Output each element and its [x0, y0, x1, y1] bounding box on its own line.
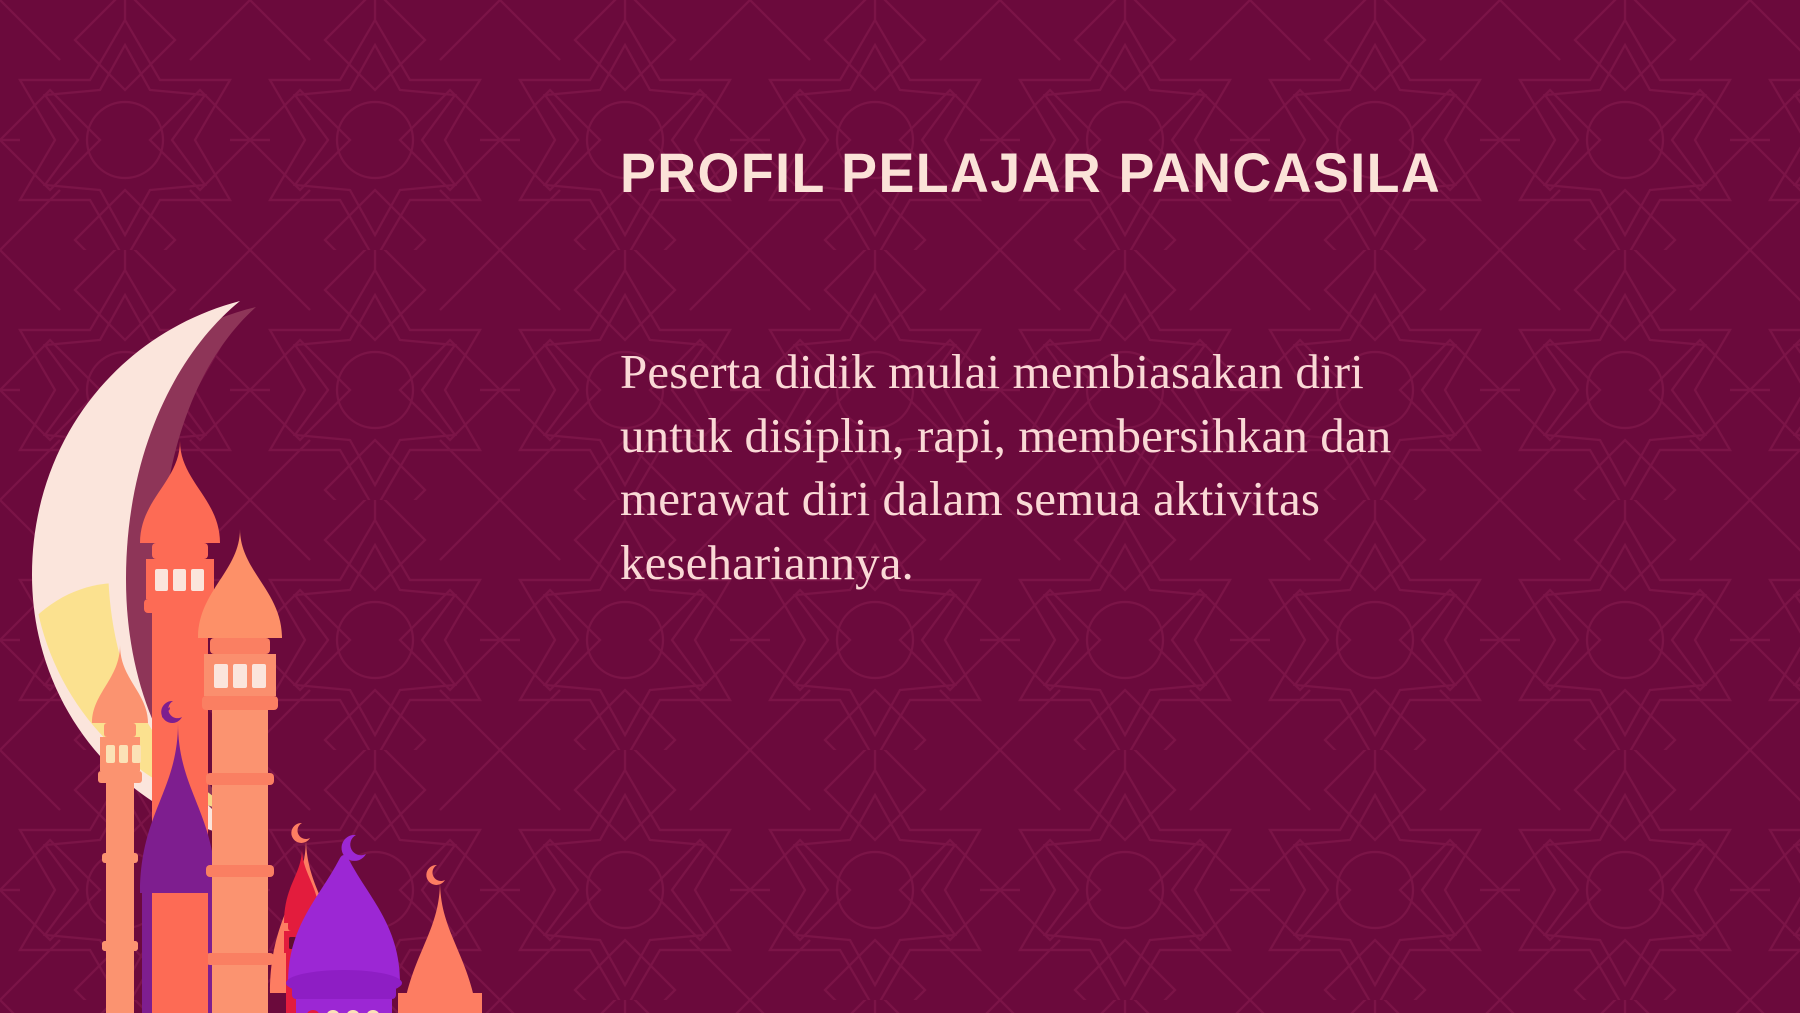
slide-root: PROFIL PELAJAR PANCASILA Peserta didik m…	[0, 0, 1800, 1013]
dome-coral-right	[398, 865, 482, 1013]
minaret-foreground-shafts	[102, 893, 274, 1013]
body-line: untuk disiplin, rapi, membersihkan dan	[620, 404, 1690, 468]
text-column: PROFIL PELAJAR PANCASILA Peserta didik m…	[620, 0, 1740, 1013]
body-line: Peserta didik mulai membiasakan diri	[620, 340, 1690, 404]
page-title: PROFIL PELAJAR PANCASILA	[620, 145, 1441, 201]
body-paragraph: Peserta didik mulai membiasakan diri unt…	[620, 340, 1690, 595]
ramadan-mosque-crescent-illustration	[0, 293, 660, 1013]
body-line: merawat diri dalam semua aktivitas	[620, 467, 1690, 531]
body-line: kesehariannya.	[620, 531, 1690, 595]
